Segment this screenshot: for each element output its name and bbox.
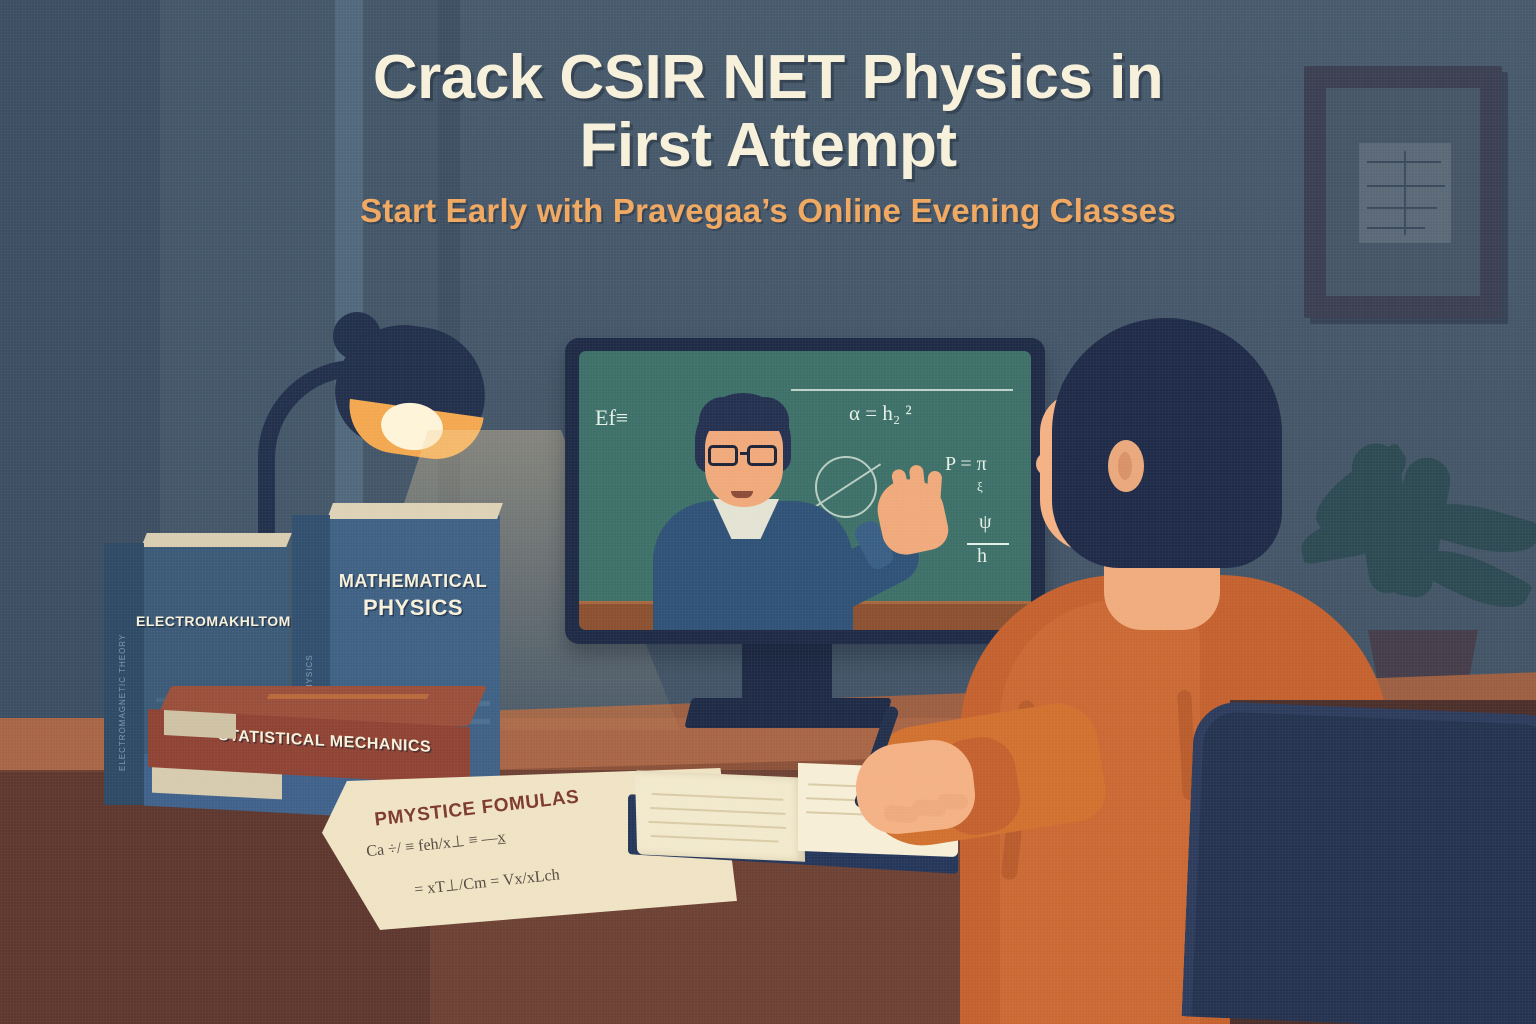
paper-title: PMYSTICE FOMULAS [373,786,580,831]
chalk-squiggle: ξ [977,479,983,495]
book-spine: ELECTROMAGNETIC THEORY [104,543,144,805]
book-title-middle-1: MATHEMATICAL [334,571,492,592]
headline-block: Crack CSIR NET Physics in First Attempt … [0,44,1536,230]
computer-monitor[interactable]: Ef≡ α = h₂ ² P = π ξ ψ h [565,338,1045,644]
student-ear-inner [1118,452,1132,480]
book-spine-label: ELECTROMAGNETIC THEORY [118,571,127,771]
paper-equation-1: = xT⊥/Cm = Vx/xLch [413,864,560,899]
glasses-left-lens [708,445,738,466]
book-stripe [267,694,429,699]
office-chair-rim [1182,700,1536,1024]
notebook-page-left [635,770,805,861]
monitor-base [684,698,891,728]
book-title-left: ELECTROMAKHLTOM [136,613,286,629]
headline-line-2: First Attempt [0,112,1536,180]
book-page-label [164,710,236,739]
poster-scene: ELECTROMAGNETIC THEORY ELECTROMAKHLTOM M… [0,0,1536,1024]
glasses-bridge [740,452,750,455]
book-pages [141,533,292,547]
chalk-note-3: ψ [979,511,992,534]
headline-line-1: Crack CSIR NET Physics in [0,44,1536,112]
chalk-note-1: α = h₂ ² [849,401,912,426]
headline-subtitle: Start Early with Pravegaa’s Online Eveni… [0,192,1536,230]
chalk-note-2: P = π [945,453,987,476]
monitor-screen: Ef≡ α = h₂ ² P = π ξ ψ h [579,351,1031,630]
chalk-note-4: h [977,545,987,568]
teacher-mouth [731,491,753,498]
paper-equation-0: Ca ÷/ ≡ feh/x⊥ ≡ —x̲ [365,827,506,862]
glasses-right-lens [747,445,777,466]
student-sideburn [1060,370,1106,460]
book-statistical-mechanics: STATISTICAL MECHANICS [148,700,478,772]
book-pages [327,503,503,519]
book-title-middle-2: PHYSICS [334,595,492,621]
monitor-neck [742,642,832,704]
chalk-fraction-bar [967,543,1009,545]
chalk-note-0: Ef≡ [595,405,628,431]
chalk-underline [791,389,1013,391]
book-title-front: STATISTICAL MECHANICS [218,727,468,759]
teacher-fringe [699,397,789,431]
